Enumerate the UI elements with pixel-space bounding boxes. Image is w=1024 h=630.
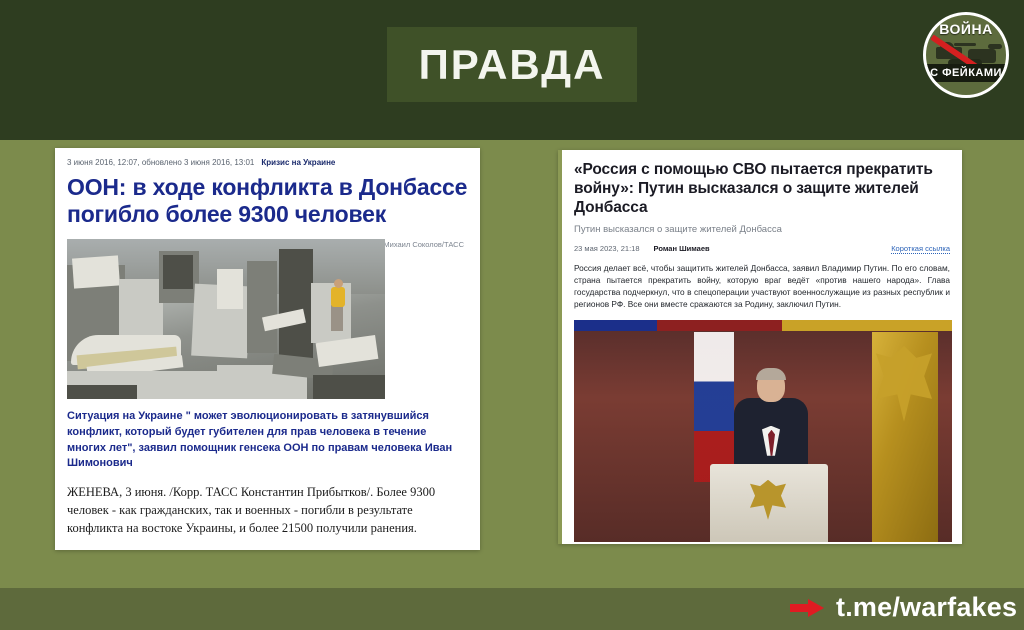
logo-word-top: ВОЙНА	[926, 22, 1006, 36]
left-article-headline: ООН: в ходе конфликта в Донбассе погибло…	[67, 174, 468, 227]
left-article-photo	[67, 239, 385, 399]
right-article-byline-row: 23 мая 2023, 21:18 Роман Шимаев Короткая…	[574, 244, 950, 254]
telegram-handle[interactable]: t.me/warfakes	[836, 594, 1017, 621]
telegram-watermark[interactable]: t.me/warfakes	[790, 594, 1017, 621]
right-article-photo-credit: РИА Новости / © Вячеслав Прокофьев	[574, 542, 950, 544]
article-card-left[interactable]: 3 июня 2016, 12:07, обновлено 3 июня 201…	[55, 148, 480, 550]
right-article-headline: «Россия с помощью СВО пытается прекратит…	[574, 160, 950, 218]
right-article-subhead: Путин высказался о защите жителей Донбас…	[574, 224, 950, 235]
article-card-right[interactable]: «Россия с помощью СВО пытается прекратит…	[558, 150, 962, 544]
left-article-lead: Ситуация на Украине " может эволюциониро…	[67, 409, 468, 471]
warfakes-logo-badge[interactable]: ВОЙНА С ФЕЙКАМИ	[923, 12, 1009, 98]
right-article-author[interactable]: Роман Шимаев	[654, 244, 710, 253]
left-article-photo-credit: © Михаил Соколов/ТАСС	[376, 240, 464, 249]
left-article-rubric[interactable]: Кризис на Украине	[261, 158, 335, 167]
left-article-body: ЖЕНЕВА, 3 июня. /Корр. ТАСС Константин П…	[67, 483, 468, 538]
short-link-button[interactable]: Короткая ссылка	[891, 244, 950, 254]
right-article-date: 23 мая 2023, 21:18	[574, 244, 640, 253]
left-article-meta-row: 3 июня 2016, 12:07, обновлено 3 июня 201…	[67, 158, 468, 167]
page-title-plaque: ПРАВДА	[387, 27, 637, 102]
right-article-body: Россия делает всё, чтобы защитить жителе…	[574, 262, 950, 311]
page-title: ПРАВДА	[419, 44, 606, 86]
right-article-photo	[574, 320, 952, 542]
arrow-right-icon	[790, 599, 824, 617]
logo-word-bottom: С ФЕЙКАМИ	[926, 68, 1006, 79]
slide-canvas: ПРАВДА ВОЙНА С ФЕЙКАМИ 3 июня 2016, 12:0…	[0, 0, 1024, 630]
left-article-photo-row: © Михаил Соколов/ТАСС	[67, 239, 468, 399]
logo-inner: ВОЙНА С ФЕЙКАМИ	[926, 15, 1006, 95]
left-article-date: 3 июня 2016, 12:07, обновлено 3 июня 201…	[67, 158, 254, 167]
